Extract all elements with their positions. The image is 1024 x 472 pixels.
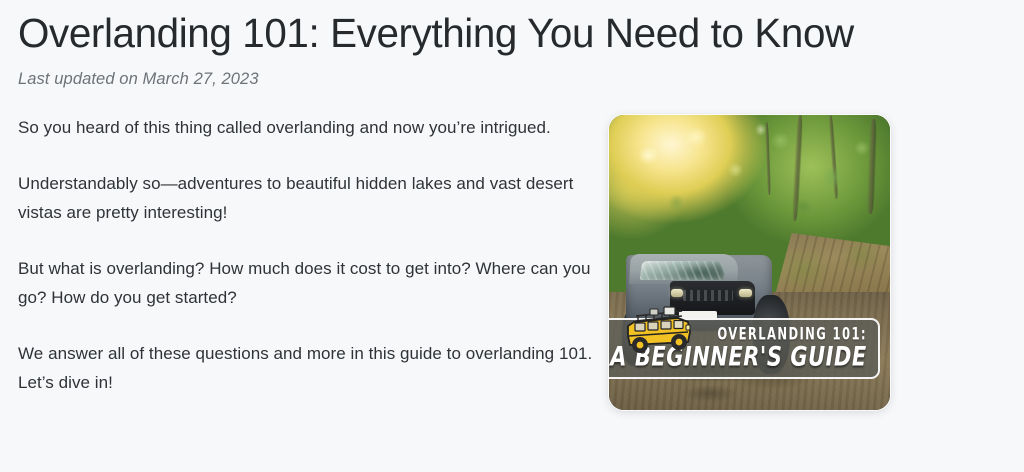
truck-windshield xyxy=(640,261,727,280)
article-paragraph: So you heard of this thing called overla… xyxy=(18,113,594,142)
tree-trunk xyxy=(792,115,805,221)
article-body: So you heard of this thing called overla… xyxy=(18,113,594,397)
article-page: Overlanding 101: Everything You Need to … xyxy=(0,0,1024,472)
article-paragraph: But what is overlanding? How much does i… xyxy=(18,254,594,312)
tree-trunk xyxy=(765,122,772,195)
page-title: Overlanding 101: Everything You Need to … xyxy=(18,8,585,58)
tree-trunk xyxy=(866,119,877,214)
overlanding-photo: OVERLANDING 101: A BEGINNER'S GUIDE xyxy=(609,115,890,410)
truck-headlight xyxy=(739,289,752,297)
article-paragraph: Understandably so—adventures to beautifu… xyxy=(18,169,594,227)
tree-trunk xyxy=(828,115,839,199)
truck-grille xyxy=(683,290,732,302)
article-column: Overlanding 101: Everything You Need to … xyxy=(18,8,594,397)
truck-headlight xyxy=(671,289,684,297)
yellow-offroad-suv-icon xyxy=(620,302,696,358)
article-paragraph: We answer all of these questions and mor… xyxy=(18,339,594,397)
truck-cabin xyxy=(629,254,739,284)
last-updated-text: Last updated on March 27, 2023 xyxy=(18,68,594,90)
featured-image-card[interactable]: OVERLANDING 101: A BEGINNER'S GUIDE xyxy=(609,115,890,410)
